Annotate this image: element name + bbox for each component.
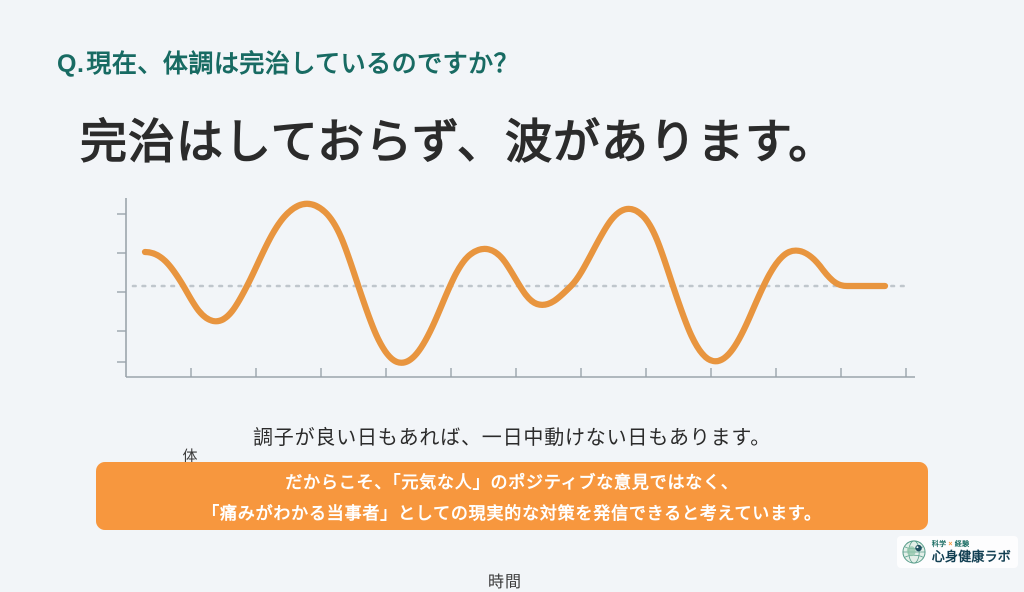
chart-x-ticks [191, 368, 906, 377]
banner-line-2: 「痛みがわかる当事者」としての現実的な対策を発信できると考えています。 [202, 499, 822, 524]
logo-tagline-left: 科学 [932, 541, 947, 548]
question-text: 現在、体調は完治しているのですか？ [86, 50, 519, 78]
question-prefix: Q. [57, 50, 84, 78]
logo-text: 科学 × 経験 心身健康ラボ [932, 541, 1011, 563]
chart-plot-svg [85, 190, 925, 400]
logo-tagline-x: × [948, 541, 952, 548]
logo-tagline-right: 経験 [955, 541, 970, 548]
chart-caption: 調子が良い日もあれば、一日中動けない日もあります。 [0, 421, 1024, 450]
question-line: Q.現在、体調は完治しているのですか？ [57, 44, 519, 80]
page-title: 完治はしておらず、波があります。 [80, 103, 836, 172]
banner-line-1: だからこそ、「元気な人」のポジティブな意見ではなく、 [285, 468, 738, 493]
logo-name: 心身健康ラボ [932, 550, 1011, 563]
condition-wave-chart: 体調 [85, 190, 925, 400]
brand-logo: 科学 × 経験 心身健康ラボ [897, 536, 1018, 568]
logo-tagline: 科学 × 経験 [932, 541, 1011, 548]
chart-condition-curve [145, 204, 885, 363]
chart-y-ticks [117, 214, 126, 362]
globe-icon [901, 539, 927, 565]
conclusion-banner: だからこそ、「元気な人」のポジティブな意見ではなく、 「痛みがわかる当事者」とし… [96, 462, 928, 530]
